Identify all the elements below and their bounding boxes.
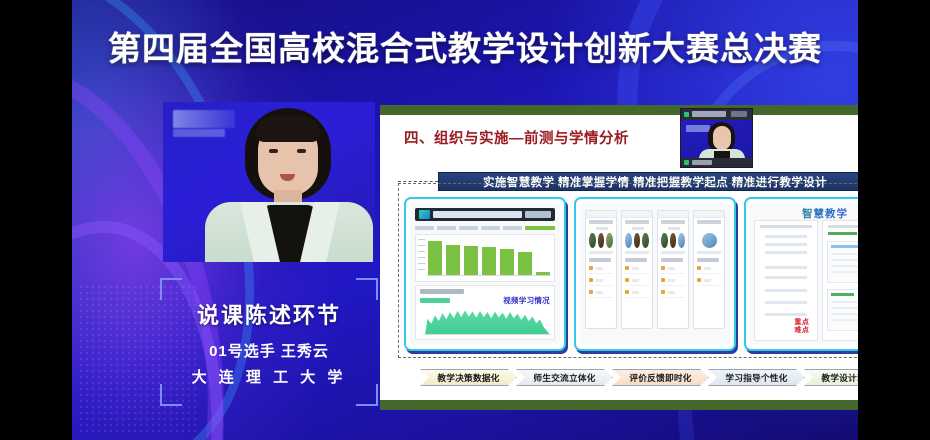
card-group-inner [580, 203, 730, 345]
bar [446, 245, 460, 275]
document-line [765, 301, 807, 304]
phone-screenshot [621, 210, 653, 329]
presentation-slide: 四、组织与实施—前测与学情分析 实施智慧教学 精准掌握学情 精准把握教学起点 精 [380, 105, 858, 410]
card-group-discussion [574, 197, 736, 351]
document-line [765, 289, 807, 292]
bracket-bottom-left [160, 384, 182, 406]
phone-screenshot [657, 210, 689, 329]
tag-learning-guidance[interactable]: 学习指导个性化 [708, 369, 805, 386]
list-item [625, 277, 649, 286]
document-line [765, 251, 807, 254]
answer-card-line [831, 307, 858, 309]
document-line [765, 235, 807, 238]
list-item [625, 265, 649, 274]
phone-subtitle [668, 227, 680, 230]
document-line [765, 313, 807, 316]
phone-statusbar [622, 211, 652, 218]
banner-dash-left [398, 181, 438, 182]
phone-caption [589, 251, 613, 254]
bracket-top-left [160, 278, 182, 300]
avatar [625, 233, 632, 248]
card-mooc-inner: 视频学习情况 [410, 203, 560, 345]
tag-teaching-decision[interactable]: 教学决策数据化 [420, 369, 517, 386]
session-label: 说课陈述环节 [160, 298, 378, 330]
slide-bottom-bar [380, 400, 858, 410]
tag-teaching-design[interactable]: 教学设计动态化 [804, 369, 858, 386]
document-line [765, 266, 807, 269]
panel-status-line [828, 232, 857, 235]
avatar [598, 233, 605, 248]
bar [518, 252, 532, 275]
webcam-title-text-secondary [731, 111, 747, 117]
bar-chart-bars [428, 238, 550, 275]
phone-section-label [661, 258, 683, 262]
mooc-nav-tab [503, 226, 522, 230]
smart-teaching-columns: 重点难点 [754, 220, 858, 341]
answer-card-line [831, 271, 858, 273]
phone-avatar-row [661, 233, 685, 253]
avatar [606, 233, 613, 248]
video-chart-legend-swatch [420, 298, 450, 303]
contestant-affiliation: 大 连 理 工 大 学 [160, 366, 378, 387]
red-annotation-重点难点: 重点难点 [794, 319, 809, 334]
tag-evaluation-feedback[interactable]: 评价反馈即时化 [612, 369, 709, 386]
phone-statusbar [658, 211, 688, 218]
letterbox-left [0, 0, 72, 440]
video-chart-label: 视频学习情况 [503, 295, 550, 306]
bracket-bottom-right [356, 384, 378, 406]
mooc-nav-tab [415, 226, 434, 230]
presenter-watermark-line2 [173, 129, 225, 137]
bar [464, 246, 478, 275]
contestant-name: 01号选手 王秀云 [160, 340, 378, 361]
phone-section-label [697, 258, 719, 262]
mooc-platform-name [433, 211, 522, 218]
phone-caption [625, 251, 649, 254]
answer-card-line [831, 319, 858, 321]
bar [536, 272, 550, 275]
bar [428, 241, 442, 275]
phone-screenshot-row [585, 210, 725, 329]
phone-title [589, 220, 613, 224]
list-item [661, 277, 685, 286]
answer-card-line [831, 253, 858, 255]
phone-avatar-row [625, 233, 649, 253]
card-mooc: 视频学习情况 [404, 197, 566, 351]
document-preview: 重点难点 [754, 220, 818, 341]
avatar [634, 233, 641, 248]
phone-caption [697, 251, 721, 254]
smart-teaching-title: 智慧教学 [750, 206, 858, 221]
phone-title [697, 220, 721, 224]
phone-screenshot [585, 210, 617, 329]
screen: 第四届全国高校混合式教学设计创新大赛总决赛 说课陈述环节 01号选手 王秀云 [0, 0, 930, 440]
slide-heading: 四、组织与实施—前测与学情分析 [404, 127, 629, 148]
tag-label: 评价反馈即时化 [629, 371, 691, 384]
list-item [697, 265, 721, 274]
phone-subtitle [632, 227, 644, 230]
video-frame: 第四届全国高校混合式教学设计创新大赛总决赛 说课陈述环节 01号选手 王秀云 [72, 0, 858, 440]
phone-screenshot [693, 210, 725, 329]
video-chart-title-bar [420, 289, 464, 294]
mooc-video-chart: 视频学习情况 [415, 285, 555, 340]
presenter-fringe [256, 116, 320, 142]
answer-card-line [831, 265, 858, 267]
phone-list [589, 265, 613, 325]
list-item [589, 289, 613, 298]
list-item [697, 277, 721, 286]
phone-list [625, 265, 649, 325]
phone-title [661, 220, 685, 224]
document-line [765, 276, 807, 279]
panel-heading [828, 225, 858, 228]
avatar [642, 233, 649, 248]
tag-label: 教学设计动态化 [821, 371, 858, 384]
bar-chart-x-axis [427, 275, 551, 276]
outcome-tag-row: 教学决策数据化 师生交流立体化 评价反馈即时化 学习指导个性化 教学设计动态化 [420, 369, 858, 386]
presenter-eye-right [297, 149, 306, 153]
phone-caption [661, 251, 685, 254]
slide-webcam-overlay [680, 108, 753, 168]
card-smart-inner: 智慧教学 [750, 203, 858, 345]
mooc-nav-tab-active [525, 226, 555, 230]
slide-cards: 视频学习情况 [404, 197, 858, 351]
presenter-eye-left [269, 149, 278, 153]
mooc-bar-chart [415, 234, 555, 282]
card-smart-teaching: 智慧教学 [744, 197, 858, 351]
phone-section-label [625, 258, 647, 262]
avatar [661, 233, 668, 248]
bar-chart-y-ticks [418, 239, 425, 275]
bar [500, 249, 514, 275]
tag-label: 学习指导个性化 [725, 371, 787, 384]
presenter-watermark-line1 [173, 110, 235, 128]
mooc-nav-tab [459, 226, 478, 230]
mooc-header-bar [415, 208, 555, 221]
list-item [589, 277, 613, 286]
list-item [589, 265, 613, 274]
webcam-title-text [692, 111, 726, 117]
mooc-nav-tabs [415, 224, 555, 231]
phone-statusbar [694, 211, 724, 218]
avatar [702, 233, 717, 248]
video-chart-x-axis [423, 334, 551, 335]
phone-title [625, 220, 649, 224]
answer-card-line [831, 313, 858, 315]
phone-list [661, 265, 685, 325]
answer-card-line [831, 301, 858, 303]
letterbox-right [858, 0, 930, 440]
answer-card: 要点难点 [827, 289, 858, 331]
video-chart-area-series [425, 307, 550, 335]
answer-card-title-green [831, 293, 853, 296]
document-line [765, 243, 807, 246]
avatar [678, 233, 685, 248]
tag-teacher-student-interaction[interactable]: 师生交流立体化 [516, 369, 613, 386]
answer-card-line [831, 259, 858, 261]
phone-avatar-row [589, 233, 613, 253]
list-item [661, 289, 685, 298]
mooc-nav-tab [437, 226, 456, 230]
slide-top-bar [380, 105, 858, 115]
presenter-video [163, 102, 375, 262]
webcam-mic-dot-icon [684, 160, 689, 165]
page-title: 第四届全国高校混合式教学设计创新大赛总决赛 [72, 22, 858, 70]
phone-section-label [589, 258, 611, 262]
grading-panel: 已学不学 要点难点 [822, 220, 858, 341]
phone-subtitle [596, 227, 608, 230]
webcam-name-tag [686, 125, 710, 132]
mooc-nav-tab [481, 226, 500, 230]
bracket-top-right [356, 278, 378, 300]
tag-label: 教学决策数据化 [437, 371, 499, 384]
webcam-person-face [713, 126, 731, 150]
presenter-caption: 说课陈述环节 01号选手 王秀云 大 连 理 工 大 学 [160, 278, 378, 406]
list-item [625, 289, 649, 298]
bar [482, 247, 496, 275]
answer-card: 已学不学 [827, 241, 858, 283]
phone-list [697, 265, 721, 325]
avatar [589, 233, 596, 248]
phone-statusbar [586, 211, 616, 218]
document-heading [760, 225, 812, 228]
phone-avatar-row [697, 233, 721, 253]
webcam-status-text [692, 160, 712, 165]
answer-card-title [831, 245, 858, 248]
webcam-status-dot-icon [684, 112, 689, 117]
mooc-unit-name [525, 211, 551, 218]
tag-label: 师生交流立体化 [533, 371, 595, 384]
list-item [661, 265, 685, 274]
mooc-logo-icon [419, 210, 430, 219]
avatar [670, 233, 677, 248]
